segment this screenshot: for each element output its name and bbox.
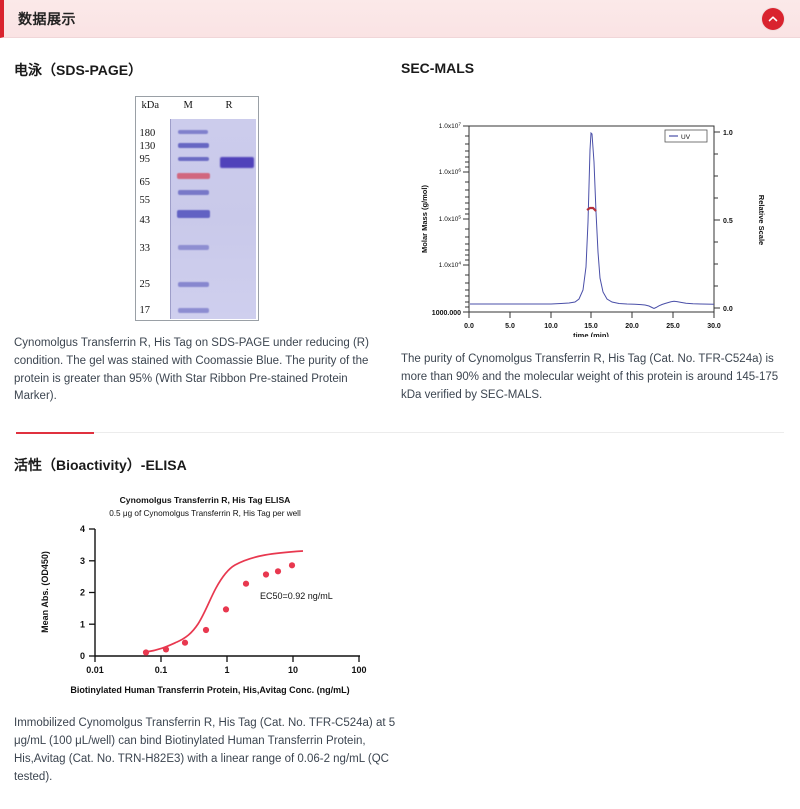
gel-mw-180: 180 — [140, 128, 156, 139]
elisa-x-ticks — [95, 656, 359, 662]
elisa-fit-curve — [146, 551, 303, 652]
x-tick-15: 15.0 — [584, 323, 598, 330]
gel-mw-33: 33 — [140, 243, 151, 254]
gel-mw-55: 55 — [140, 195, 151, 206]
plot-frame — [469, 126, 714, 312]
y-tick-1e4: 1.0x104 — [439, 260, 462, 269]
marker-band-95 — [178, 157, 209, 161]
secmals-caption: The purity of Cynomolgus Transferrin R, … — [401, 351, 786, 404]
gel-mw-43: 43 — [140, 215, 151, 226]
data-display-page: 数据展示 电泳（SDS-PAGE） kDa M R — [0, 0, 800, 809]
elisa-x-axis-title: Biotinylated Human Transferrin Protein, … — [70, 685, 349, 695]
elisa-point-2 — [163, 647, 169, 653]
elisa-x-tick-0-01: 0.01 — [86, 665, 104, 675]
sdspage-caption: Cynomolgus Transferrin R, His Tag on SDS… — [14, 335, 379, 406]
elisa-x-tick-0-1: 0.1 — [155, 665, 168, 675]
elisa-x-labels: 0.01 0.1 1 10 100 — [86, 665, 366, 675]
page-title: 数据展示 — [18, 9, 76, 29]
panel-header: 数据展示 — [0, 0, 800, 38]
elisa-point-4 — [203, 627, 209, 633]
marker-band-65 — [178, 190, 209, 195]
secmals-title: SEC-MALS — [401, 60, 786, 76]
legend-label-uv: UV — [681, 134, 691, 141]
bioactivity-title: 活性（Bioactivity）-ELISA — [14, 455, 786, 475]
y-axis-ticks — [463, 126, 469, 312]
sec-mals-svg: 1.0x107 1.0x106 1.0x105 1.0x104 1000.000… — [401, 92, 786, 337]
elisa-x-tick-100: 100 — [351, 665, 366, 675]
bioactivity-section: 活性（Bioactivity）-ELISA Cynomolgus Transfe… — [14, 455, 786, 786]
elisa-x-tick-10: 10 — [288, 665, 298, 675]
elisa-y-tick-2: 2 — [80, 588, 85, 598]
x-axis-labels: 0.0 5.0 10.0 15.0 20.0 25.0 30.0 — [464, 323, 721, 330]
collapse-panel-button[interactable] — [762, 8, 784, 30]
elisa-y-ticks — [89, 529, 95, 656]
gel-mw-17: 17 — [140, 305, 151, 316]
elisa-chart: Cynomolgus Transferrin R, His Tag ELISA … — [20, 491, 390, 701]
y2-axis-ticks — [714, 132, 720, 308]
y-tick-1000: 1000.000 — [432, 310, 461, 317]
elisa-y-labels: 4 3 2 1 0 — [80, 524, 85, 661]
elisa-y-tick-1: 1 — [80, 620, 85, 630]
x-tick-5: 5.0 — [505, 323, 515, 330]
elisa-ec50-annotation: EC50=0.92 ng/mL — [260, 591, 333, 601]
y-axis-title: Molar Mass (g/mol) — [420, 185, 429, 253]
marker-band-25 — [178, 282, 209, 287]
x-axis-ticks — [469, 312, 714, 318]
x-tick-20: 20.0 — [625, 323, 639, 330]
marker-band-33 — [178, 245, 209, 250]
elisa-x-tick-1: 1 — [224, 665, 229, 675]
gel-lane-area — [170, 119, 256, 319]
elisa-svg: Cynomolgus Transferrin R, His Tag ELISA … — [20, 491, 390, 703]
y2-axis-labels: 1.0 0.5 0.0 — [723, 130, 733, 313]
sec-mals-chart: 1.0x107 1.0x106 1.0x105 1.0x104 1000.000… — [401, 92, 786, 337]
elisa-y-tick-4: 4 — [80, 524, 85, 534]
marker-band-130 — [178, 143, 209, 148]
sdspage-section: 电泳（SDS-PAGE） kDa M R 180 130 95 65 55 — [14, 38, 393, 406]
marker-band-180 — [178, 130, 208, 134]
y2-tick-1: 1.0 — [723, 130, 733, 137]
marker-band-17 — [178, 308, 209, 313]
section-divider — [16, 432, 784, 433]
x-axis-title: time (min) — [573, 331, 609, 337]
y2-tick-0-5: 0.5 — [723, 218, 733, 225]
gel-header-lane-m: M — [184, 100, 193, 111]
elisa-y-tick-0: 0 — [80, 651, 85, 661]
elisa-chart-subtitle: 0.5 μg of Cynomolgus Transferrin R, His … — [109, 509, 301, 518]
elisa-point-7 — [263, 572, 269, 578]
x-tick-0: 0.0 — [464, 323, 474, 330]
elisa-y-axis-title: Mean Abs. (OD450) — [40, 551, 50, 633]
y2-axis-title: Relative Scale — [757, 195, 766, 245]
gel-header-kda: kDa — [142, 100, 160, 111]
chevron-up-icon — [767, 13, 779, 25]
panel-content: 电泳（SDS-PAGE） kDa M R 180 130 95 65 55 — [0, 38, 800, 787]
marker-band-43 — [177, 210, 210, 218]
gel-image-wrap: kDa M R 180 130 95 65 55 43 33 25 17 — [14, 96, 379, 321]
elisa-point-3 — [182, 640, 188, 646]
x-tick-30: 30.0 — [707, 323, 721, 330]
gel-mw-130: 130 — [140, 141, 156, 152]
y-tick-1e7: 1.0x107 — [439, 121, 462, 130]
gel-mw-65: 65 — [140, 177, 151, 188]
gel-header-lane-r: R — [226, 100, 233, 111]
y-tick-1e5: 1.0x105 — [439, 214, 462, 223]
sds-page-gel-image: kDa M R 180 130 95 65 55 43 33 25 17 — [135, 96, 259, 321]
x-tick-10: 10.0 — [544, 323, 558, 330]
gel-mw-25: 25 — [140, 279, 151, 290]
chart-legend: UV — [665, 130, 707, 142]
elisa-chart-title: Cynomolgus Transferrin R, His Tag ELISA — [120, 495, 291, 505]
elisa-point-6 — [243, 581, 249, 587]
marker-band-72 — [177, 173, 210, 179]
elisa-point-1 — [143, 650, 149, 656]
elisa-point-9 — [289, 562, 295, 568]
secmals-section: SEC-MALS — [393, 38, 786, 406]
x-tick-25: 25.0 — [666, 323, 680, 330]
top-row: 电泳（SDS-PAGE） kDa M R 180 130 95 65 55 — [14, 38, 786, 406]
y2-tick-0: 0.0 — [723, 306, 733, 313]
elisa-point-8 — [275, 568, 281, 574]
bioactivity-caption: Immobilized Cynomolgus Transferrin R, Hi… — [14, 715, 399, 786]
elisa-y-tick-3: 3 — [80, 556, 85, 566]
y-axis-labels: 1.0x107 1.0x106 1.0x105 1.0x104 1000.000 — [432, 121, 462, 317]
gel-mw-95: 95 — [140, 154, 151, 165]
sdspage-title: 电泳（SDS-PAGE） — [14, 60, 379, 80]
elisa-point-5 — [223, 607, 229, 613]
sample-band-r — [220, 157, 254, 168]
y-tick-1e6: 1.0x106 — [439, 167, 462, 176]
elisa-data-points — [143, 562, 295, 655]
